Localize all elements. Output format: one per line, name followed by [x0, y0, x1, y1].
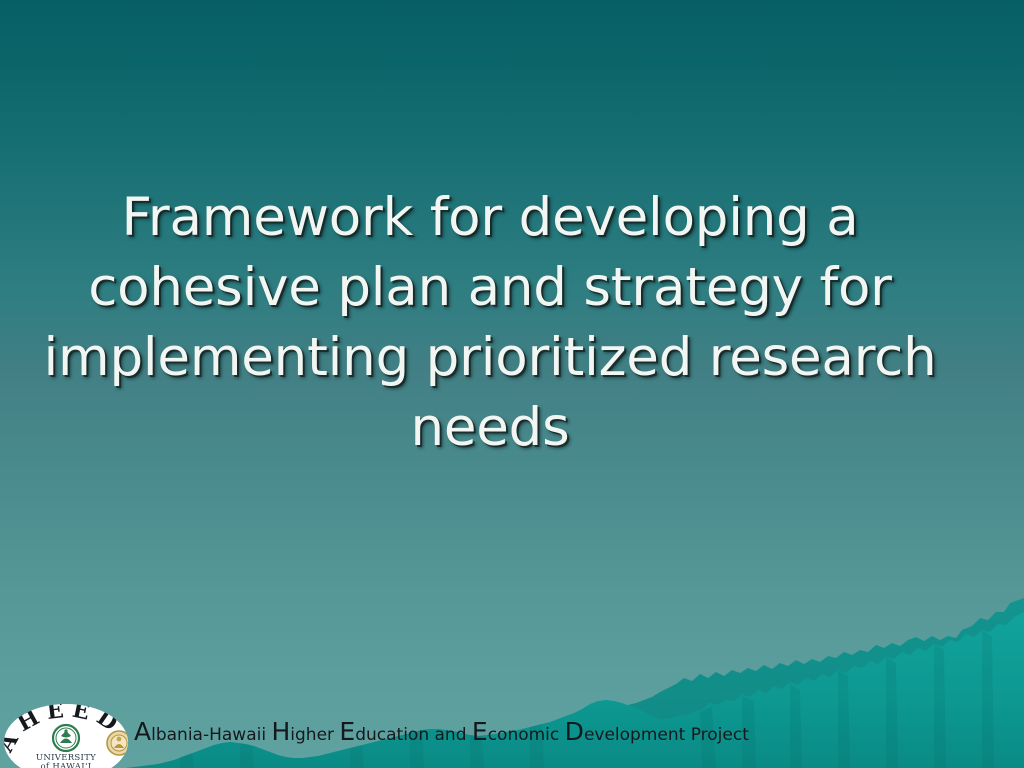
- footer-cap-d: D: [565, 717, 584, 746]
- footer-rest-e1: ducation and: [355, 725, 472, 745]
- aheed-logo: AHEED UNIVERSITY of HAWAI‘I MANOA: [2, 688, 130, 768]
- footer-rest-a: lbania-Hawaii: [151, 725, 271, 745]
- partner-gold-seal-icon: [107, 731, 130, 755]
- footer-cap-h: H: [271, 717, 290, 746]
- project-name-footer: Albania-Hawaii Higher Education and Econ…: [134, 722, 749, 745]
- seal-hawaii-label: of HAWAI‘I: [40, 761, 91, 768]
- footer-rest-e2: conomic: [488, 725, 565, 745]
- slide-title-text: Framework for developing a cohesive plan…: [40, 183, 940, 463]
- presentation-slide: Framework for developing a cohesive plan…: [0, 0, 1024, 768]
- footer-cap-e2: E: [472, 717, 488, 746]
- footer-cap-e1: E: [339, 717, 355, 746]
- footer-rest-h: igher: [290, 725, 339, 745]
- footer-cap-a: A: [134, 717, 151, 746]
- footer-rest-d: evelopment Project: [584, 725, 749, 745]
- university-of-hawaii-seal-icon: [53, 725, 79, 751]
- slide-title: Framework for developing a cohesive plan…: [40, 183, 940, 463]
